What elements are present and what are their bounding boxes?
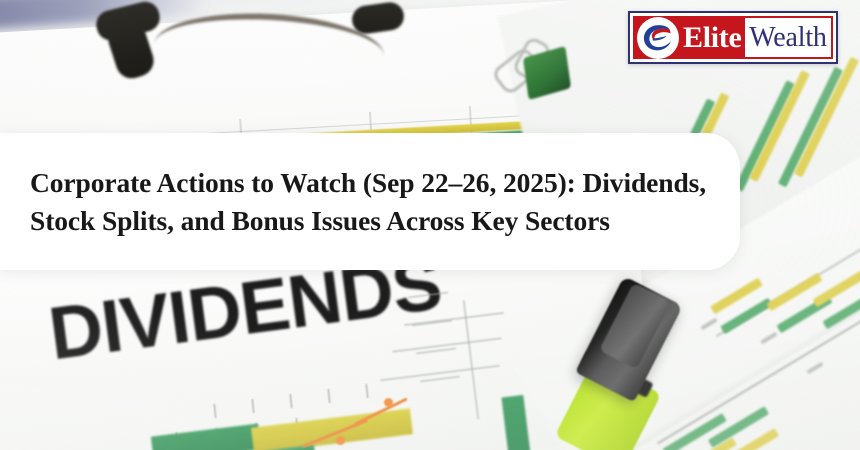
logo-inner-panel: Elite Wealth (633, 16, 833, 59)
featured-image-canvas: DIVIDENDS (0, 0, 860, 450)
title-card: Corporate Actions to Watch (Sep 22–26, 2… (0, 133, 740, 270)
elite-wealth-logo[interactable]: Elite Wealth (628, 11, 838, 64)
logo-word-elite: Elite (683, 23, 742, 53)
logo-wealth-panel: Wealth (745, 18, 831, 57)
logo-word-wealth: Wealth (749, 24, 826, 52)
page-title: Corporate Actions to Watch (Sep 22–26, 2… (0, 164, 740, 240)
elite-e-monogram-icon (637, 17, 679, 59)
